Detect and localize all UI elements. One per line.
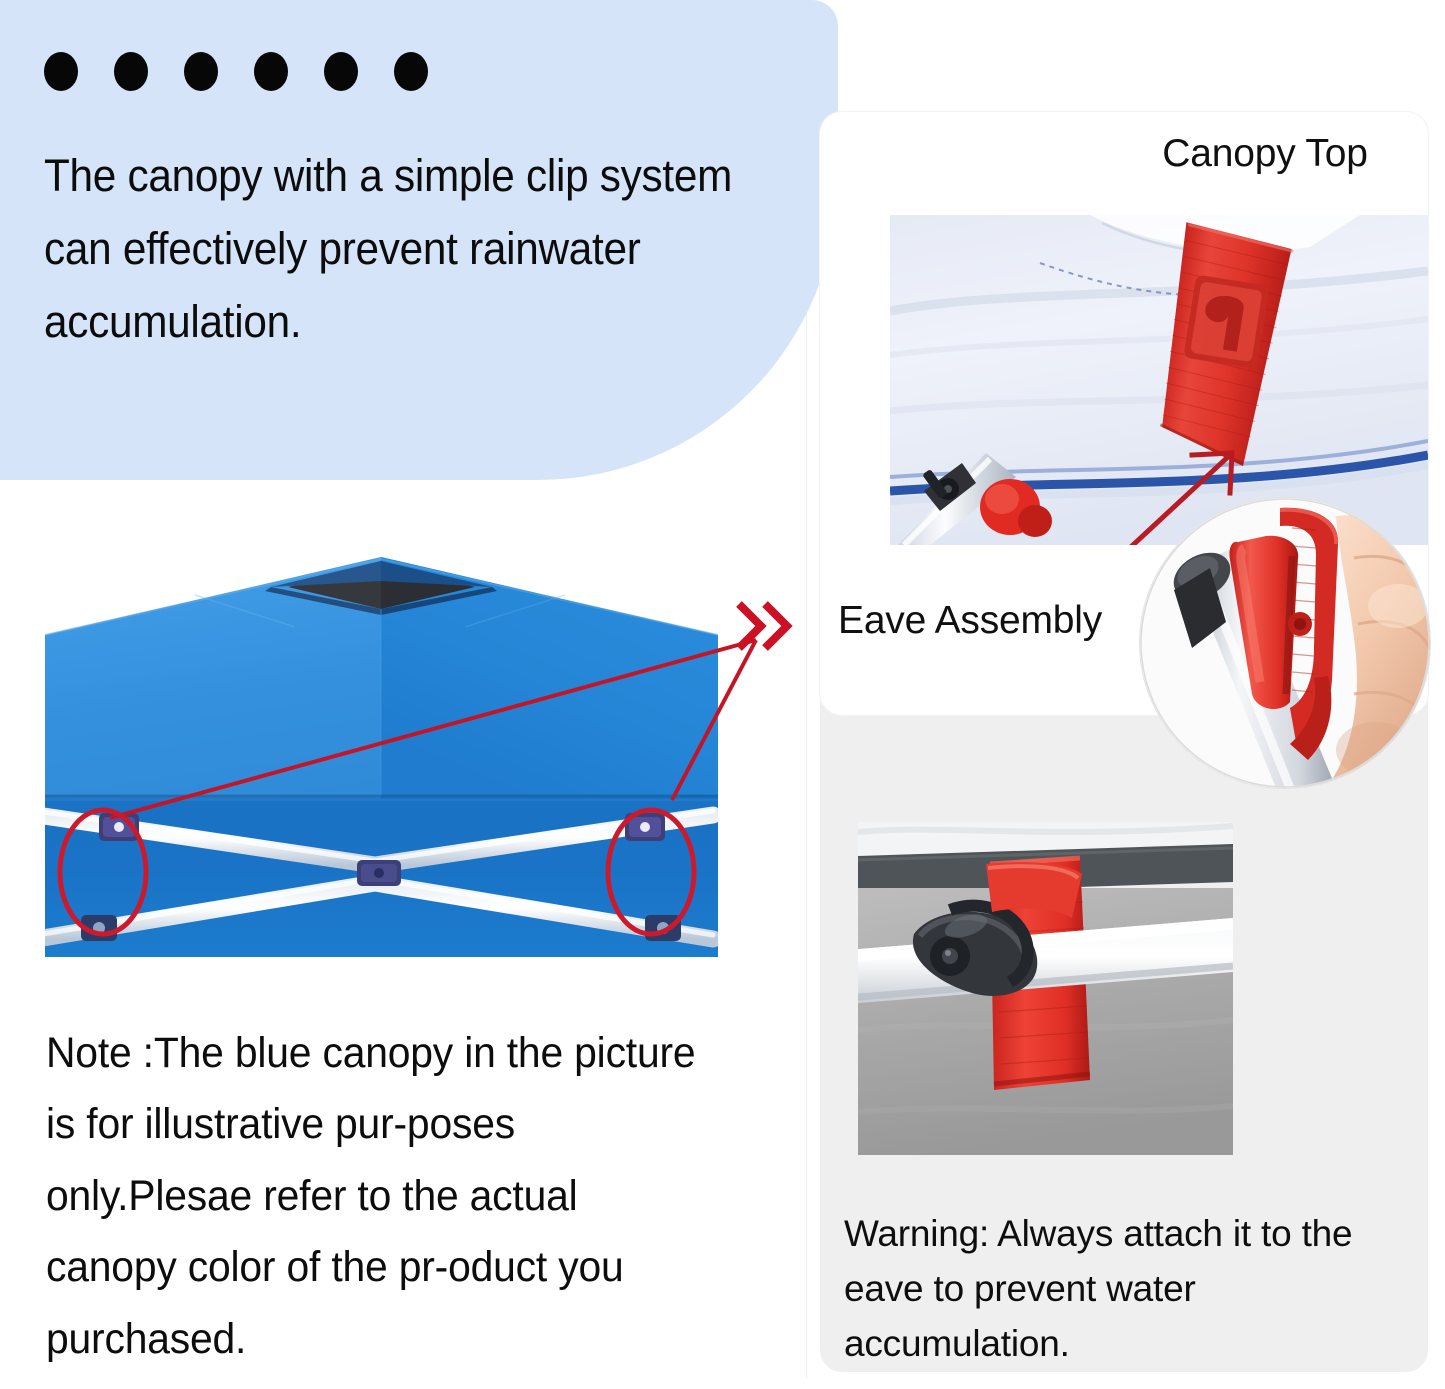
headline-text: The canopy with a simple clip system can… xyxy=(44,140,787,359)
canopy-top-photo xyxy=(890,215,1428,545)
eave-strap-buckle-photo xyxy=(858,822,1233,1155)
bullet-dot-icon xyxy=(324,52,358,91)
bullet-dot-icon xyxy=(44,52,78,91)
left-column: The canopy with a simple clip system can… xyxy=(0,0,800,1389)
bullet-dot-icon xyxy=(184,52,218,91)
bullet-dot-icon xyxy=(114,52,148,91)
eave-assembly-label: Eave Assembly xyxy=(838,599,1138,643)
canopy-top-label: Canopy Top xyxy=(1120,132,1410,176)
warning-text: Warning: Always attach it to the eave to… xyxy=(844,1207,1414,1371)
bullet-dot-icon xyxy=(254,52,288,91)
bullet-dots-row xyxy=(44,52,428,91)
bullet-dot-icon xyxy=(394,52,428,91)
canopy-underside-photo xyxy=(45,547,718,957)
headline-banner: The canopy with a simple clip system can… xyxy=(0,0,838,480)
infographic-canvas: The canopy with a simple clip system can… xyxy=(0,0,1445,1389)
chevron-right-double-icon xyxy=(735,598,793,654)
illustrative-note-text: Note :The blue canopy in the picture is … xyxy=(46,1018,711,1375)
right-column: Canopy Top xyxy=(820,112,1428,1372)
hand-attaching-clip-photo xyxy=(1140,498,1430,788)
